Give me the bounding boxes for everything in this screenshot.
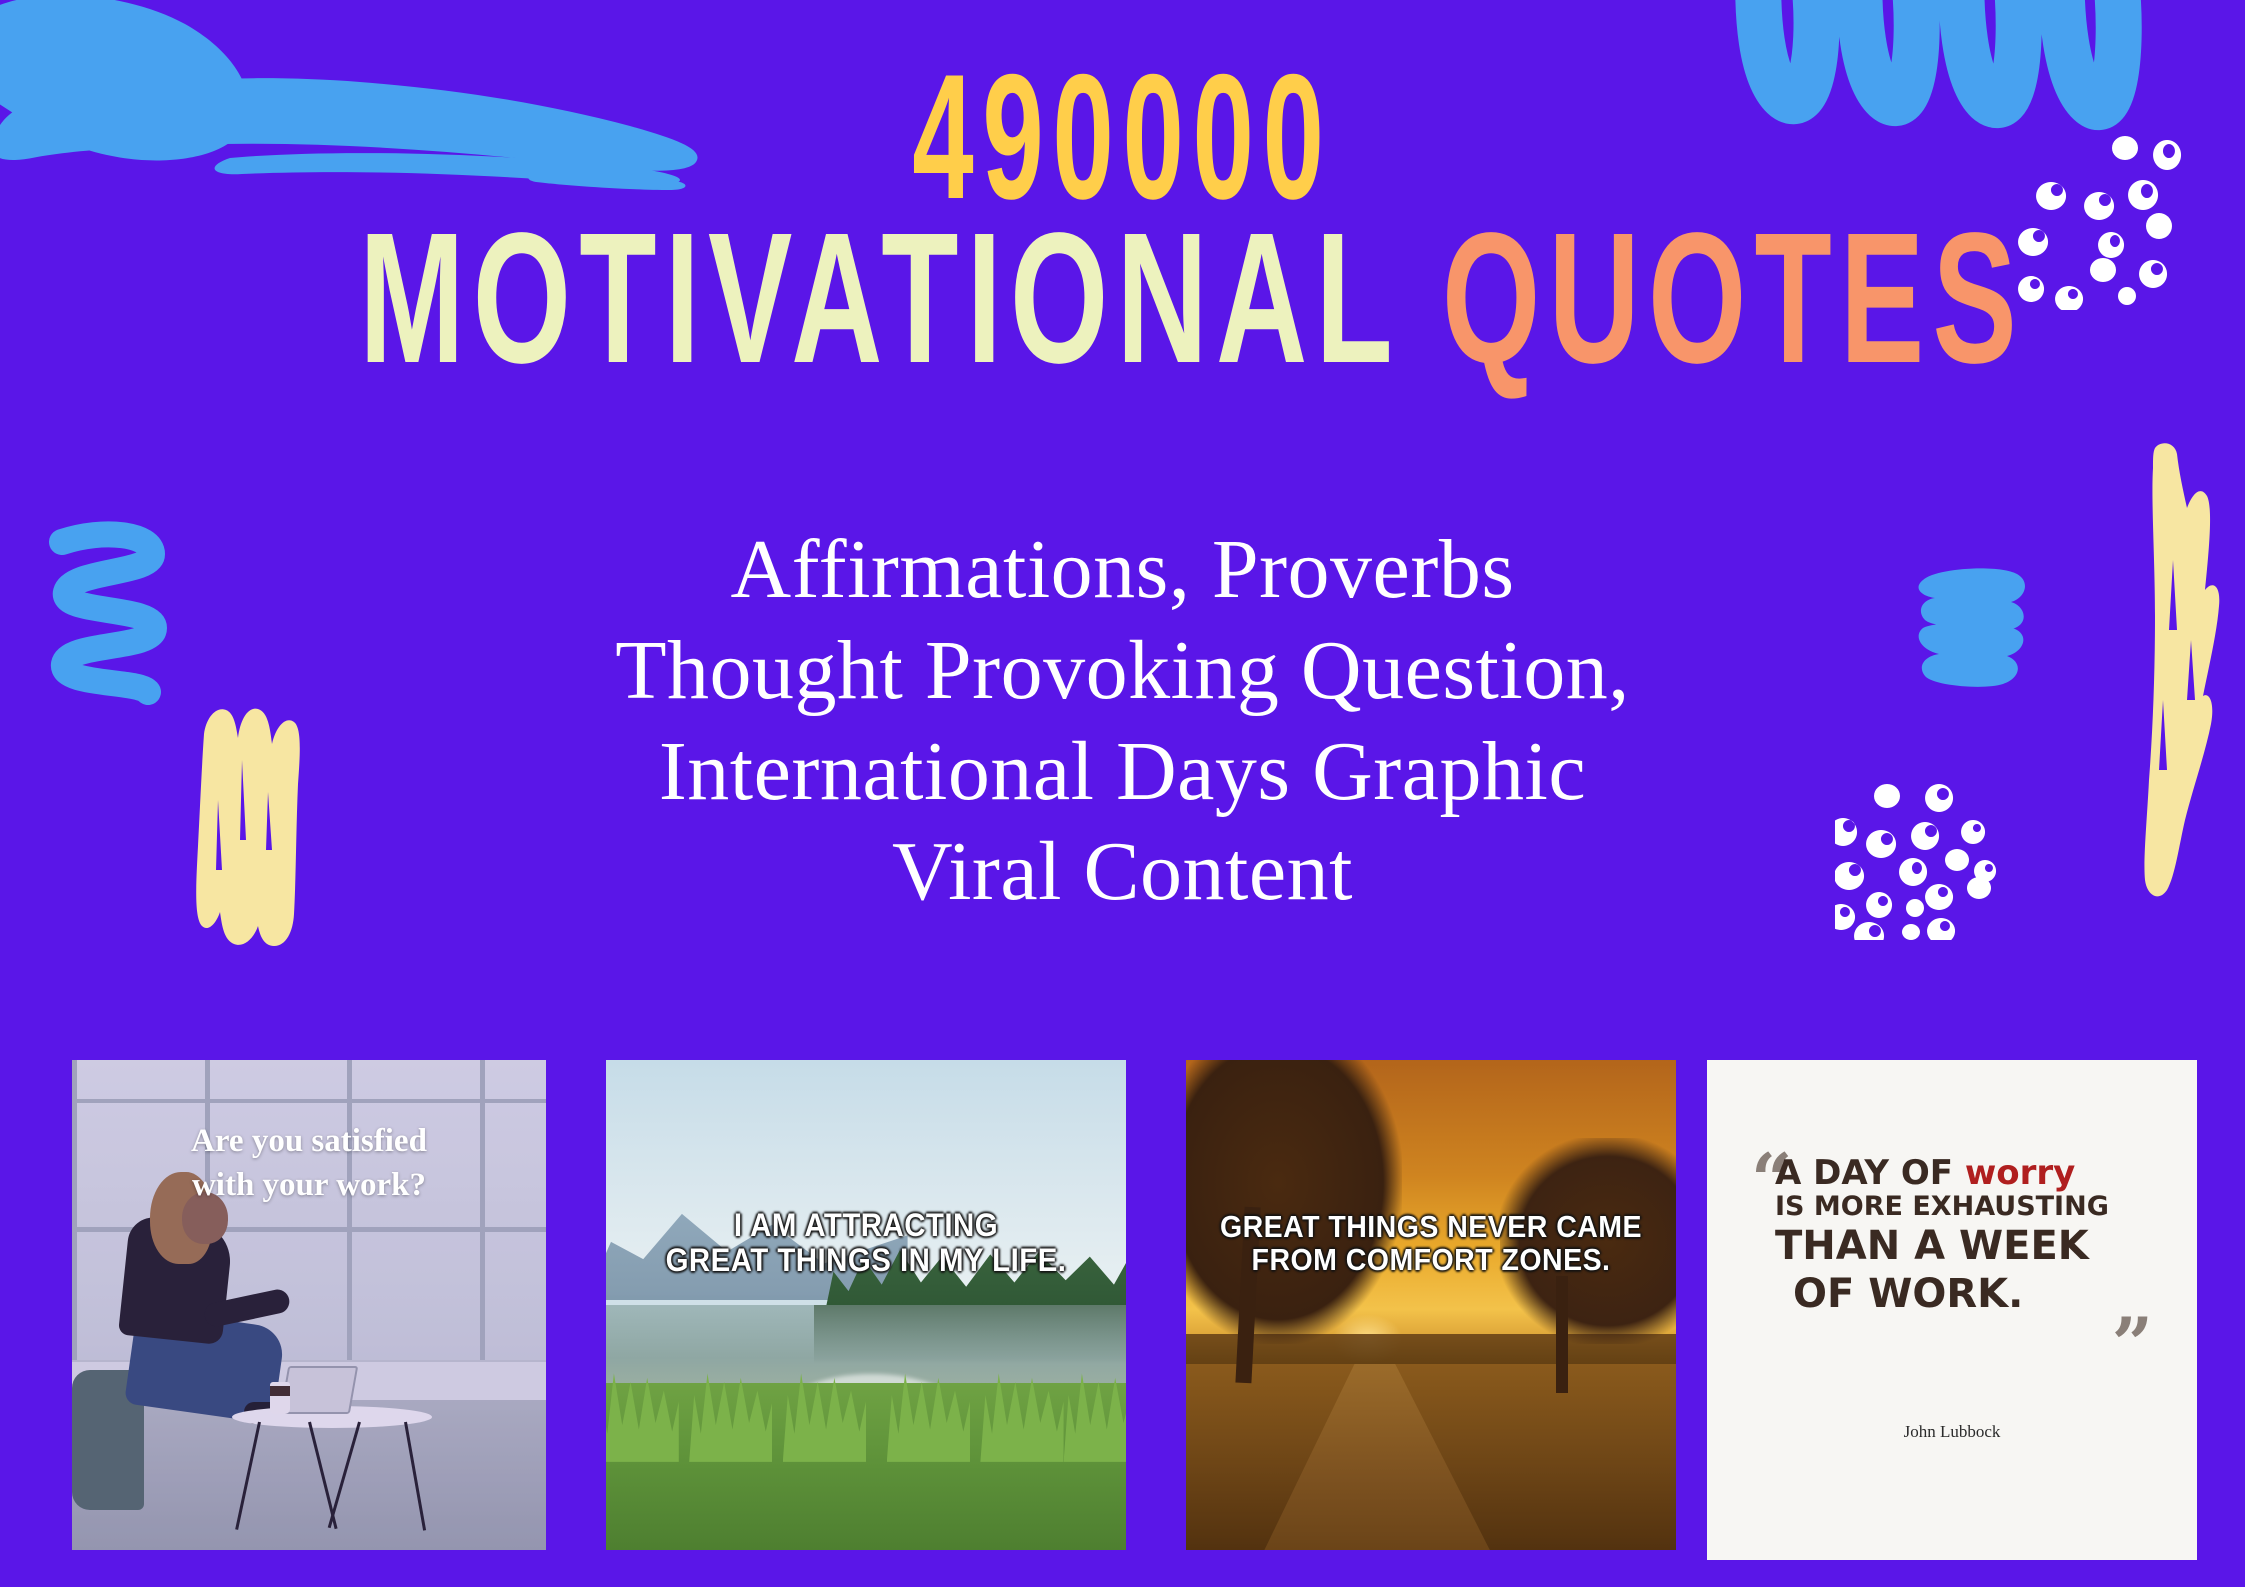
subtitle-line-3: International Days Graphic — [0, 722, 2245, 823]
page-title: MOTIVATIONAL QUOTES — [359, 217, 1886, 381]
thumbnail-2-caption: I AM ATTRACTING GREAT THINGS IN MY LIFE. — [627, 1208, 1105, 1277]
sunset-road-photo — [1186, 1060, 1676, 1550]
thumbnail-1-line-2: with your work? — [100, 1164, 518, 1208]
thumbnail-1-caption: Are you satisfied with your work? — [72, 1120, 546, 1207]
quote-line-3: THAN A WEEK — [1775, 1223, 2163, 1270]
thumbnail-a-day-of-worry[interactable]: “ ” A DAY OF worry IS MORE EXHAUSTING TH… — [1707, 1060, 2197, 1560]
thumbnail-3-caption: GREAT THINGS NEVER CAME FROM COMFORT ZON… — [1206, 1210, 1657, 1277]
quote-author: John Lubbock — [1707, 1422, 2197, 1442]
thumbnail-are-you-satisfied[interactable]: Are you satisfied with your work? — [72, 1060, 546, 1550]
subtitle-block: Affirmations, Proverbs Thought Provoking… — [0, 520, 2245, 923]
quote-count: 490000 — [427, 60, 1819, 213]
close-quote-icon: ” — [2112, 1308, 2153, 1380]
thumbnail-i-am-attracting[interactable]: I AM ATTRACTING GREAT THINGS IN MY LIFE. — [606, 1060, 1126, 1550]
title-word-motivational: MOTIVATIONAL — [359, 195, 1398, 402]
thumbnail-gallery: Are you satisfied with your work? — [0, 1060, 2245, 1560]
subtitle-line-2: Thought Provoking Question, — [0, 621, 2245, 722]
quote-line-1-a: A DAY — [1775, 1153, 1901, 1193]
subtitle-line-4: Viral Content — [0, 822, 2245, 923]
thumbnail-1-line-1: Are you satisfied — [100, 1120, 518, 1164]
lake-photo — [606, 1060, 1126, 1550]
thumbnail-4-quote: A DAY OF worry IS MORE EXHAUSTING THAN A… — [1707, 1156, 2197, 1318]
quote-line-1-worry: worry — [1965, 1153, 2075, 1193]
thumbnail-3-line-1: GREAT THINGS NEVER CAME — [1206, 1210, 1657, 1243]
thumbnail-3-line-2: FROM COMFORT ZONES. — [1206, 1243, 1657, 1276]
subtitle-line-1: Affirmations, Proverbs — [0, 520, 2245, 621]
quote-line-2: IS MORE EXHAUSTING — [1775, 1190, 2163, 1223]
thumbnail-2-line-2: GREAT THINGS IN MY LIFE. — [627, 1243, 1105, 1278]
poster-canvas: 490000 MOTIVATIONAL QUOTES Affirmations,… — [0, 0, 2245, 1587]
thumbnail-great-things-never-came[interactable]: GREAT THINGS NEVER CAME FROM COMFORT ZON… — [1186, 1060, 1676, 1550]
quote-line-4: OF WORK. — [1793, 1271, 2163, 1318]
quote-line-1-of: OF — [1901, 1153, 1965, 1193]
headline-block: 490000 MOTIVATIONAL QUOTES — [0, 60, 2245, 381]
title-word-quotes: QUOTES — [1442, 195, 2025, 402]
thumbnail-2-line-1: I AM ATTRACTING — [627, 1208, 1105, 1243]
